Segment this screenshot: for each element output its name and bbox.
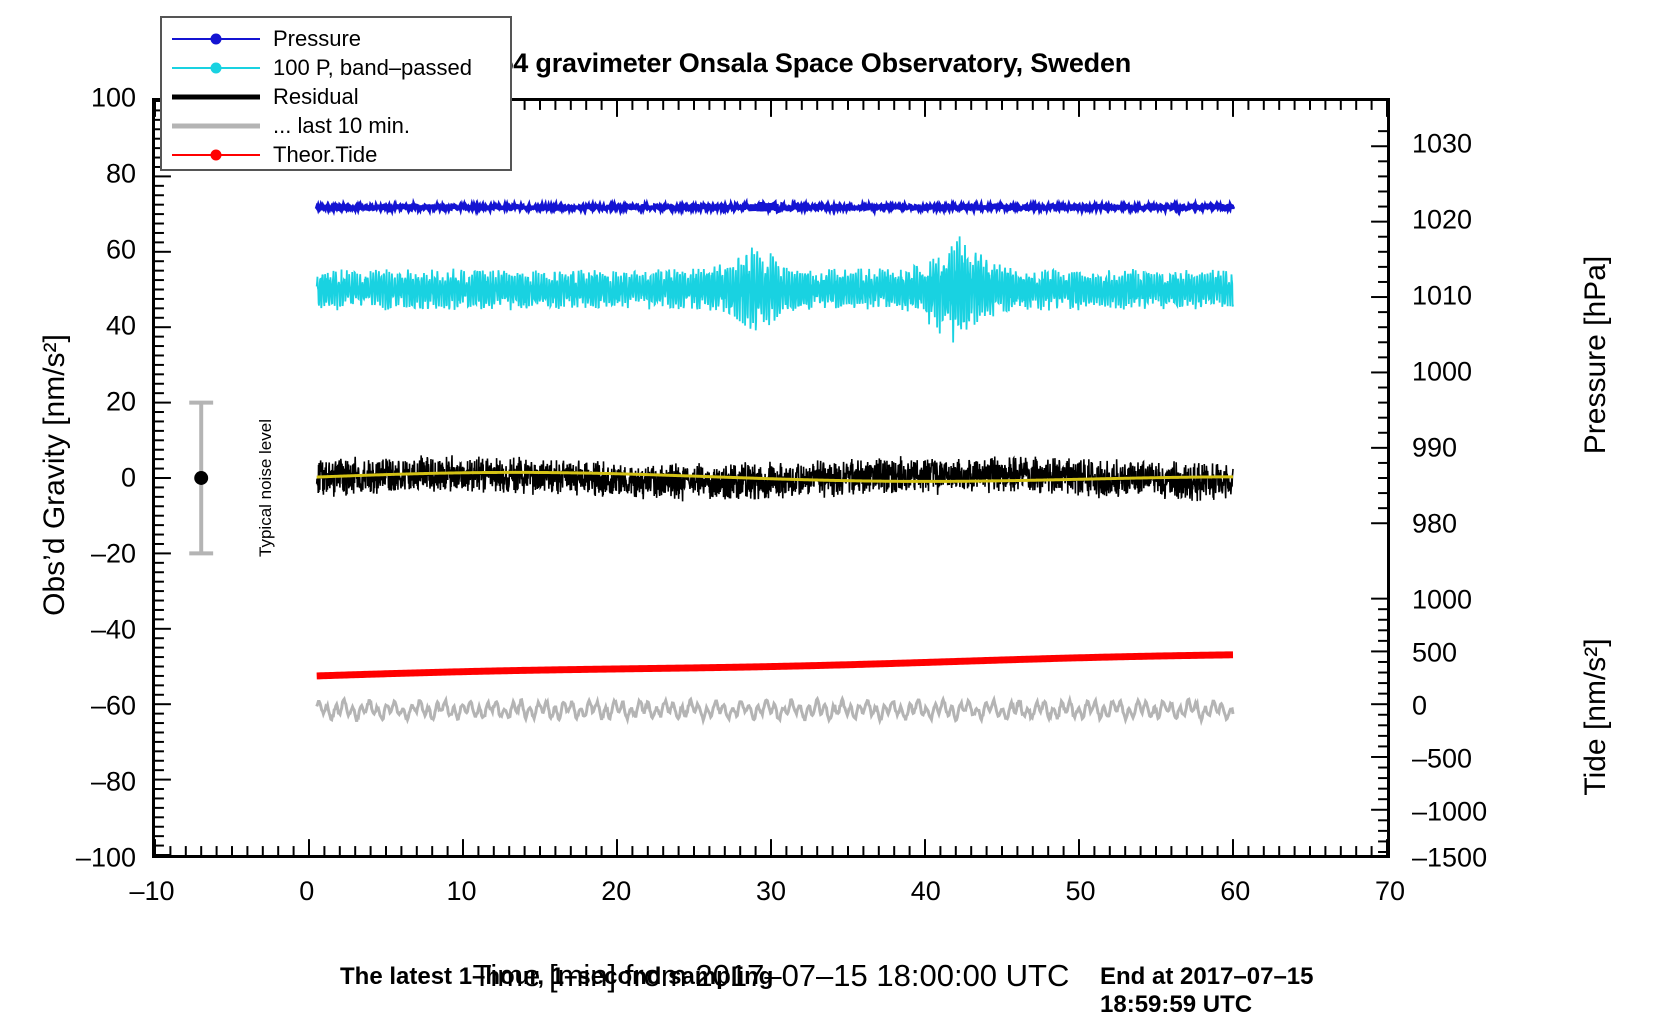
y-axis-label-tide: Tide [nm/s²]	[1579, 517, 1613, 917]
legend-label: Pressure	[260, 26, 361, 52]
legend-item-1[interactable]: 100 P, band–passed	[162, 53, 510, 82]
x-tick-label: –10	[129, 876, 174, 907]
noise-level-label: Typical noise level	[256, 378, 276, 598]
series-pressure	[317, 202, 1233, 211]
y-tick-label: –80	[22, 767, 136, 798]
y-tick-label: 40	[22, 311, 136, 342]
series-band-passed	[317, 236, 1233, 342]
legend-swatch-icon	[172, 29, 260, 49]
legend-label: Theor.Tide	[260, 142, 377, 168]
y-tick-label: 0	[22, 463, 136, 494]
legend[interactable]: Pressure100 P, band–passedResidual... la…	[160, 16, 512, 171]
tide-tick-label: 1000	[1412, 584, 1522, 615]
y-tick-label: –60	[22, 691, 136, 722]
bottom-left-note: The latest 1–hour, 1–second sampling	[340, 963, 773, 991]
pressure-tick-label: 980	[1412, 508, 1512, 539]
legend-swatch-icon	[172, 116, 260, 136]
pressure-tick-label: 990	[1412, 432, 1512, 463]
legend-swatch-icon	[172, 58, 260, 78]
tide-tick-label: –1500	[1412, 843, 1522, 874]
x-tick-label: 70	[1375, 876, 1405, 907]
tide-tick-label: 0	[1412, 691, 1522, 722]
x-tick-label: 50	[1065, 876, 1095, 907]
y-tick-label: –100	[22, 843, 136, 874]
y-tick-label: 80	[22, 159, 136, 190]
legend-item-0[interactable]: Pressure	[162, 24, 510, 53]
legend-item-4[interactable]: Theor.Tide	[162, 140, 510, 169]
legend-swatch-icon	[172, 87, 260, 107]
legend-swatch-icon	[172, 145, 260, 165]
plot-area: The latest 1–hour, 1–second sampling End…	[152, 98, 1390, 858]
tide-tick-label: 500	[1412, 637, 1522, 668]
y-tick-label: 100	[22, 83, 136, 114]
tide-tick-label: –1000	[1412, 797, 1522, 828]
legend-item-3[interactable]: ... last 10 min.	[162, 111, 510, 140]
pressure-tick-label: 1020	[1412, 204, 1512, 235]
y-tick-label: 20	[22, 387, 136, 418]
pressure-tick-label: 1010	[1412, 280, 1512, 311]
series-theor-tide	[317, 655, 1233, 676]
pressure-tick-label: 1000	[1412, 356, 1512, 387]
x-tick-label: 60	[1220, 876, 1250, 907]
x-tick-label: 20	[601, 876, 631, 907]
legend-label: 100 P, band–passed	[260, 55, 472, 81]
x-tick-label: 0	[299, 876, 314, 907]
x-tick-label: 40	[911, 876, 941, 907]
legend-item-2[interactable]: Residual	[162, 82, 510, 111]
legend-label: ... last 10 min.	[260, 113, 410, 139]
chart-page: SCG_054 gravimeter Onsala Space Observat…	[0, 0, 1660, 1020]
y-tick-label: –20	[22, 539, 136, 570]
series-last-10-min	[317, 699, 1233, 722]
x-tick-label: 10	[446, 876, 476, 907]
y-tick-label: 60	[22, 235, 136, 266]
legend-label: Residual	[260, 84, 359, 110]
x-tick-label: 30	[756, 876, 786, 907]
pressure-tick-label: 1030	[1412, 128, 1512, 159]
y-tick-label: –40	[22, 615, 136, 646]
plot-canvas	[155, 101, 1387, 855]
tide-tick-label: –500	[1412, 744, 1522, 775]
noise-level-errorbar	[189, 403, 213, 554]
bottom-right-note: End at 2017–07–15 18:59:59 UTC	[1100, 963, 1387, 1019]
